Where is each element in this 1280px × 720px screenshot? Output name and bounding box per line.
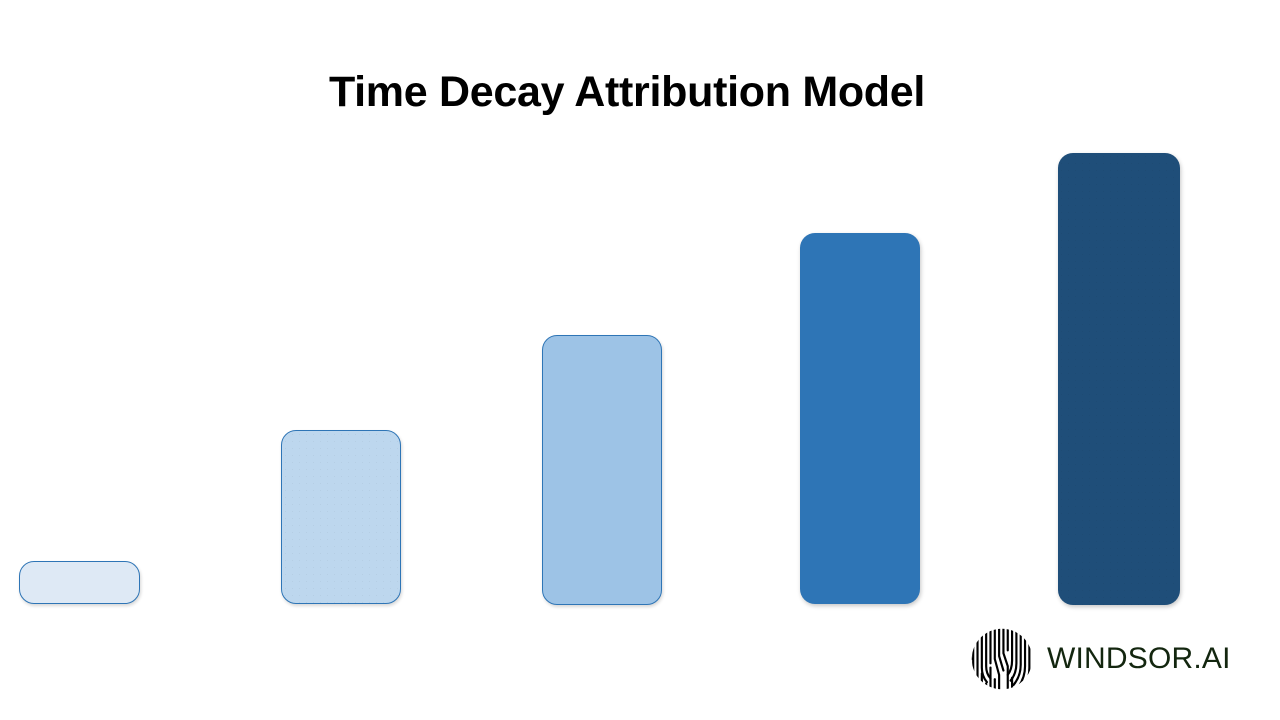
windsor-fingerprint-icon <box>966 623 1038 695</box>
bar-4 <box>800 233 920 604</box>
windsor-ai-logo: WINDSOR.AI <box>966 623 1231 695</box>
bar-1 <box>19 561 140 604</box>
slide-canvas: Time Decay Attribution Model <box>0 0 1280 720</box>
bar-5 <box>1058 153 1180 605</box>
bar-chart-plot-area <box>0 0 1280 720</box>
bar-2 <box>281 430 401 604</box>
logo-wordmark: WINDSOR.AI <box>1047 644 1231 674</box>
bar-3 <box>542 335 662 605</box>
